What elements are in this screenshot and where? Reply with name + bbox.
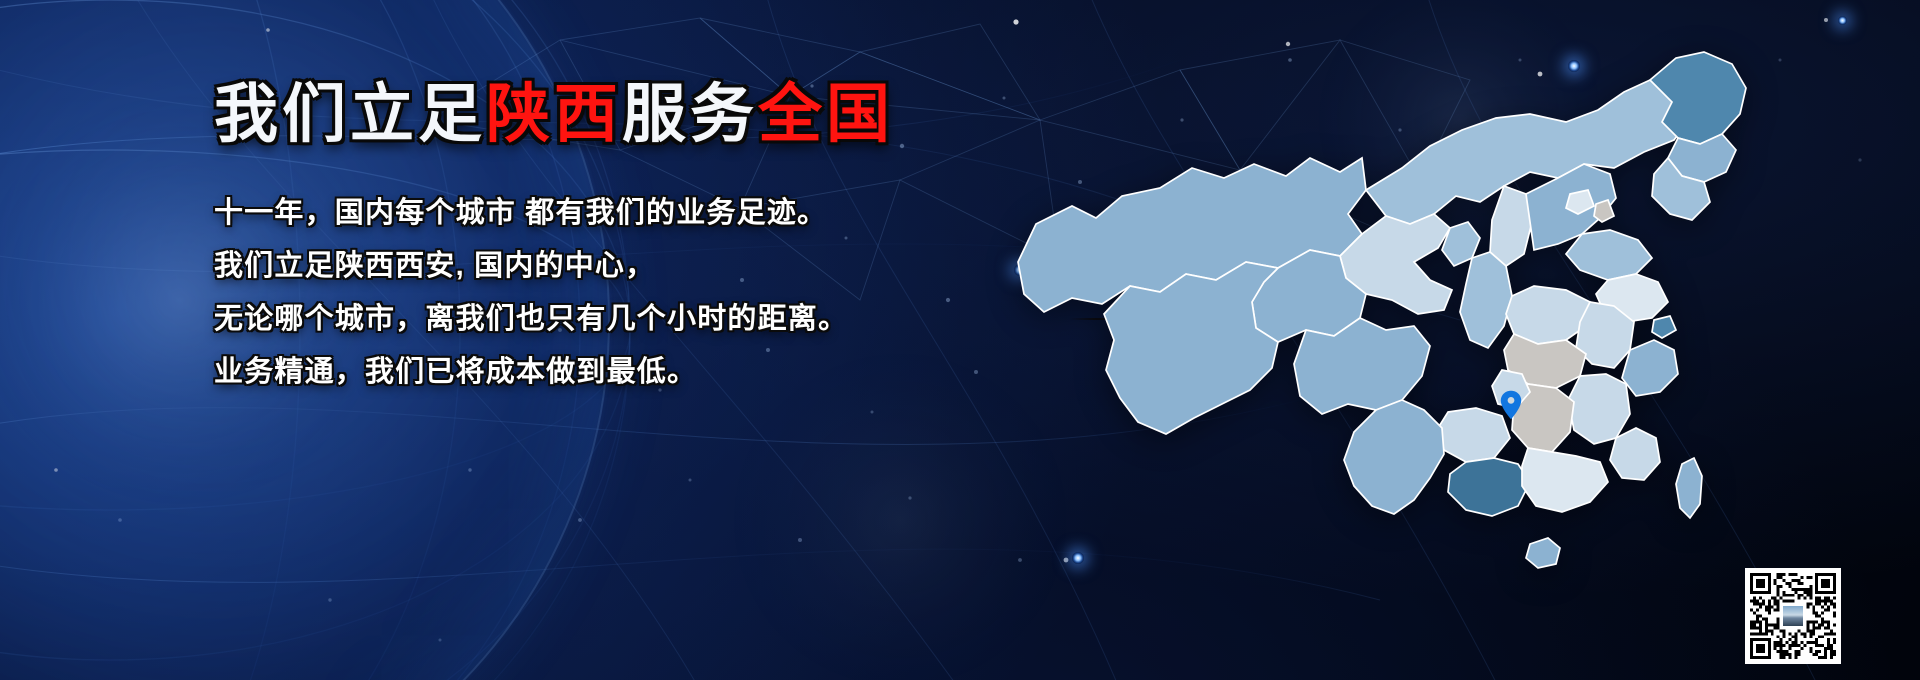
province-guangdong [1522,448,1608,512]
hero-copy: 我们立足陕西服务全国 十一年，国内每个城市 都有我们的业务足迹。 我们立足陕西西… [214,82,1074,399]
subcopy-line-3: 无论哪个城市，离我们也只有几个小时的距离。 [214,293,1074,346]
province-jiangxi [1568,374,1630,444]
province-tibet [1104,262,1278,434]
china-map [1010,18,1810,678]
hero-subcopy: 十一年，国内每个城市 都有我们的业务足迹。 我们立足陕西西安, 国内的中心， 无… [214,187,1074,399]
hero-banner: 我们立足陕西服务全国 十一年，国内每个城市 都有我们的业务足迹。 我们立足陕西西… [0,0,1920,680]
subcopy-line-1: 十一年，国内每个城市 都有我们的业务足迹。 [214,187,1074,240]
province-sichuan [1294,318,1430,414]
headline-part-4-highlight: 全国 [758,78,894,150]
subcopy-line-4: 业务精通，我们已将成本做到最低。 [214,346,1074,399]
qr-center-logo [1781,604,1805,628]
province-guangxi [1448,458,1530,516]
province-taiwan [1676,458,1702,518]
page-title: 我们立足陕西服务全国 [214,82,1074,147]
headline-part-2-highlight: 陕西 [486,78,622,150]
location-pin-icon [1500,390,1522,420]
province-shanghai [1652,316,1676,338]
headline-part-1: 我们立足 [214,78,486,150]
province-shanxi [1490,186,1532,266]
subcopy-line-2: 我们立足陕西西安, 国内的中心， [214,240,1074,293]
province-hainan [1526,538,1560,568]
province-shandong [1566,230,1652,280]
province-shaanxi [1460,252,1512,348]
headline-part-3: 服务 [622,78,758,150]
glow-point-4 [1838,16,1847,25]
wechat-qr-code[interactable] [1745,568,1841,664]
province-yunnan [1344,400,1444,514]
